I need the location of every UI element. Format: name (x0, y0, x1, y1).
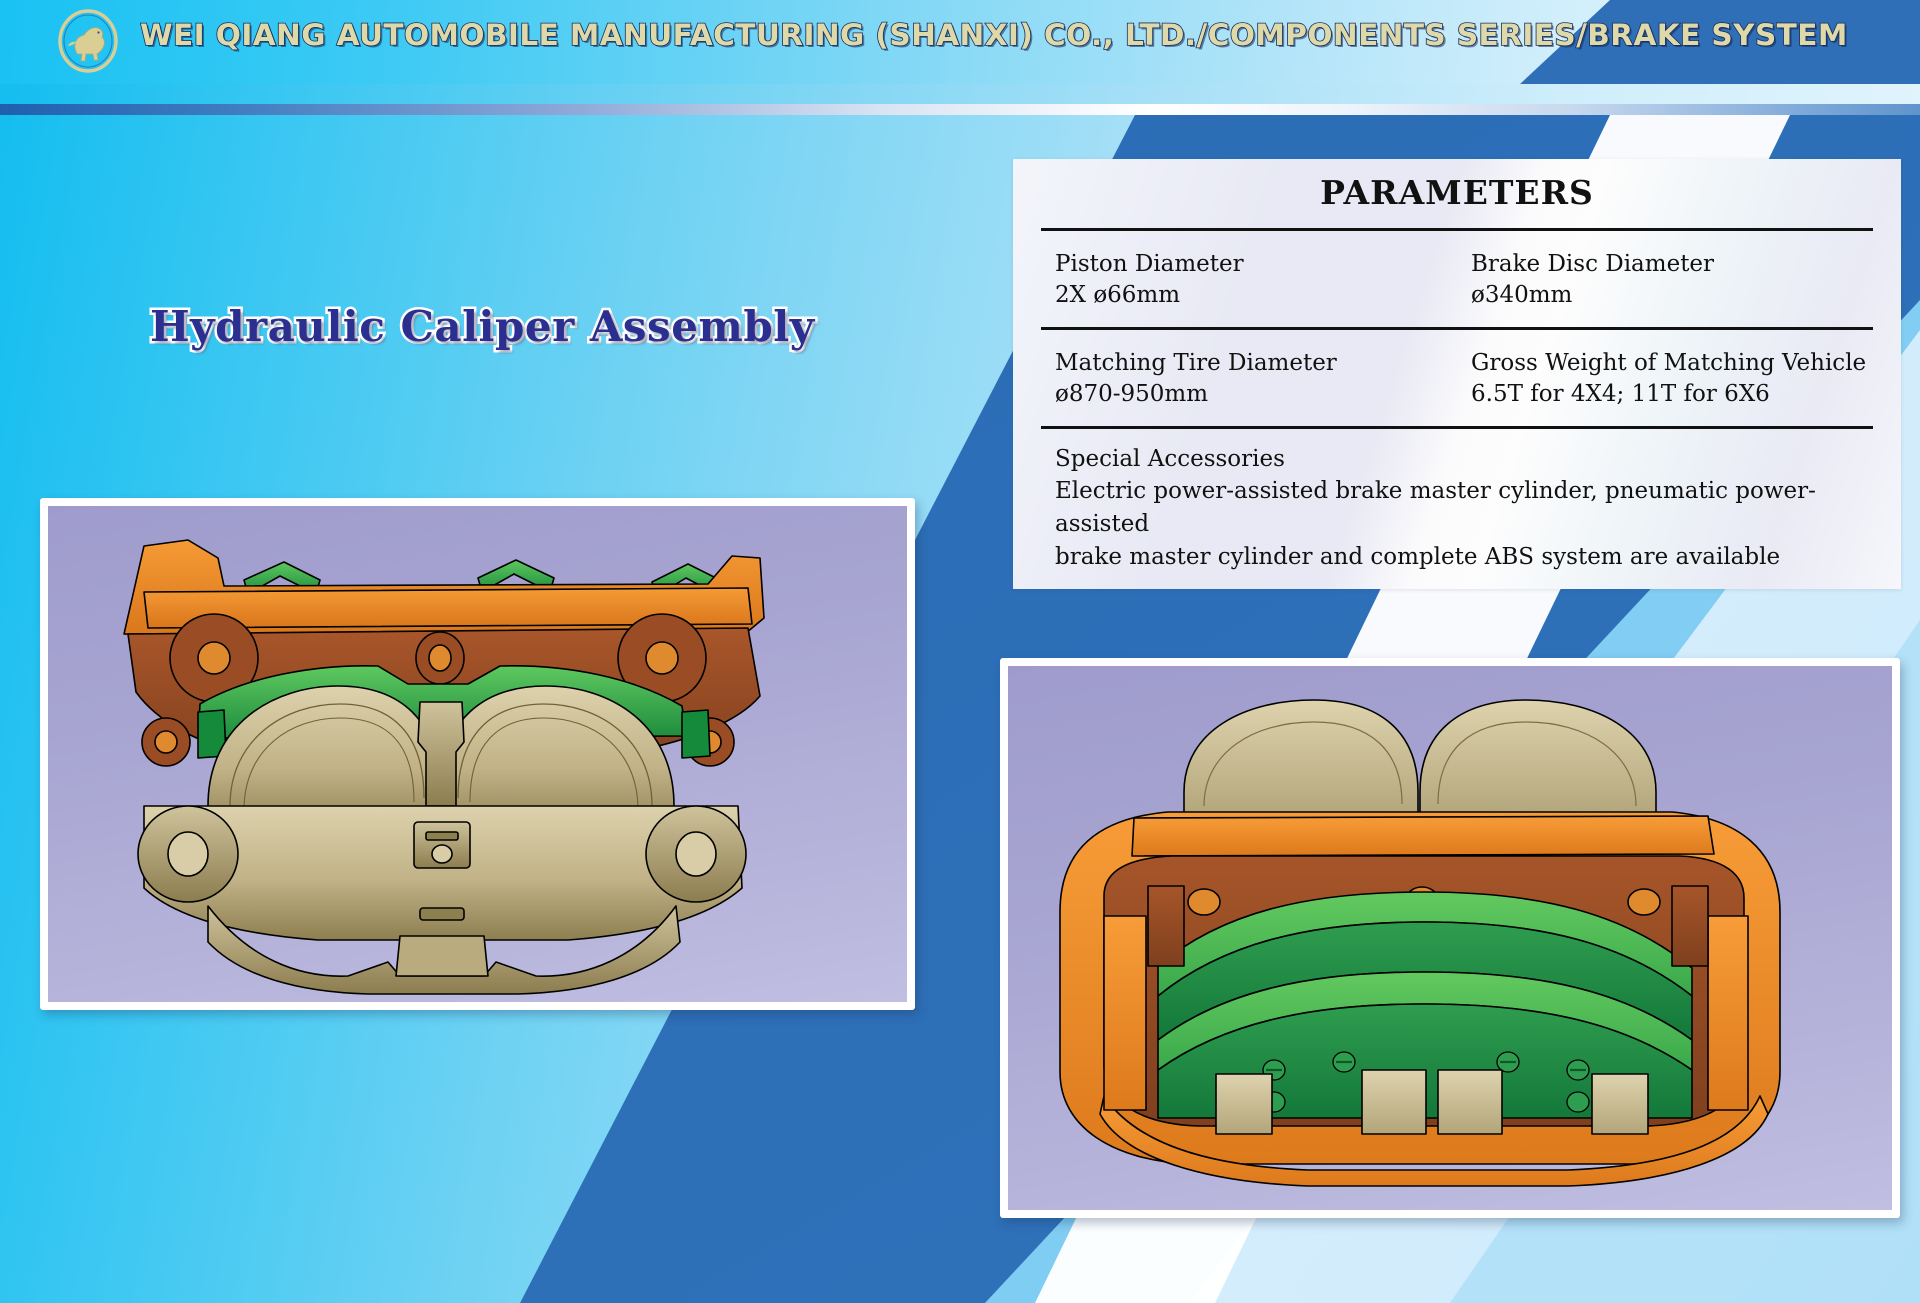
figure-card-rear-view (1000, 658, 1900, 1218)
lion-crest-icon (55, 8, 121, 74)
param-matching-tire-diameter: Matching Tire Diameter ø870-950mm (1041, 348, 1457, 410)
param-piston-diameter: Piston Diameter 2X ø66mm (1041, 249, 1457, 311)
slide-root: WEI QIANG AUTOMOBILE MANUFACTURING (SHAN… (0, 0, 1920, 1303)
parameters-row-1: Piston Diameter 2X ø66mm Brake Disc Diam… (1041, 231, 1873, 327)
param-value: ø870-950mm (1055, 379, 1457, 410)
param-value: ø340mm (1471, 280, 1873, 311)
param-label: Piston Diameter (1055, 249, 1457, 280)
param-brake-disc-diameter: Brake Disc Diameter ø340mm (1457, 249, 1873, 311)
parameters-heading: PARAMETERS (1013, 159, 1901, 212)
figure-canvas-rear (1008, 666, 1892, 1210)
hydraulic-caliper-rear-view (1008, 666, 1892, 1210)
param-gross-weight: Gross Weight of Matching Vehicle 6.5T fo… (1457, 348, 1873, 410)
param-body-line2: brake master cylinder and complete ABS s… (1055, 541, 1873, 574)
parameters-row-2: Matching Tire Diameter ø870-950mm Gross … (1041, 330, 1873, 426)
page-title: Hydraulic Caliper Assembly (150, 302, 815, 351)
param-value: 2X ø66mm (1055, 280, 1457, 311)
company-header-title: WEI QIANG AUTOMOBILE MANUFACTURING (SHAN… (140, 18, 1848, 52)
parameters-panel: PARAMETERS Piston Diameter 2X ø66mm Brak… (1013, 159, 1901, 589)
page-header: WEI QIANG AUTOMOBILE MANUFACTURING (SHAN… (0, 0, 1920, 84)
param-special-accessories: Special Accessories Electric power-assis… (1041, 429, 1873, 589)
param-label: Matching Tire Diameter (1055, 348, 1457, 379)
figure-canvas-front (48, 506, 907, 1002)
param-label: Special Accessories (1055, 443, 1873, 475)
hydraulic-caliper-front-view (48, 506, 907, 1002)
param-body-line1: Electric power-assisted brake master cyl… (1055, 475, 1873, 540)
param-label: Brake Disc Diameter (1471, 249, 1873, 280)
figure-card-front-view (40, 498, 915, 1010)
param-value: 6.5T for 4X4; 11T for 6X6 (1471, 379, 1873, 410)
header-divider-bar (0, 104, 1920, 115)
param-label: Gross Weight of Matching Vehicle (1471, 348, 1873, 379)
